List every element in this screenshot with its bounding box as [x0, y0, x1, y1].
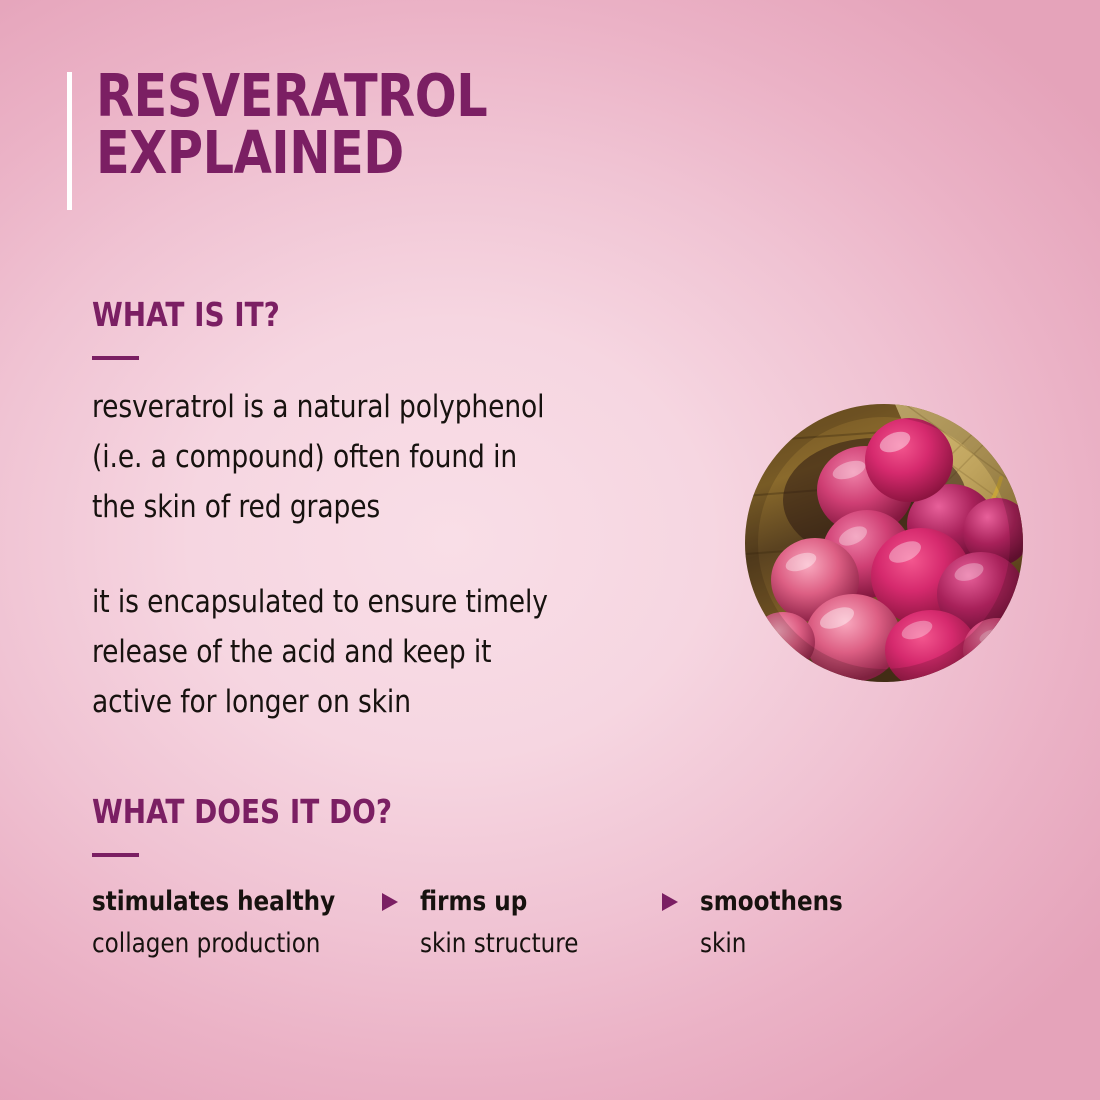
section-what-does-it-do: WHAT DOES IT DO? stimulates healthy coll… [92, 795, 992, 965]
section-heading-what-does-it-do: WHAT DOES IT DO? [92, 795, 938, 828]
benefits-row: stimulates healthy collagen production f… [92, 881, 992, 965]
page-title: RESVERATROL EXPLAINED [96, 68, 776, 181]
benefit-item: smoothens skin [662, 881, 912, 965]
heading-rule [92, 356, 139, 360]
paragraph-definition: resveratrol is a natural polyphenol (i.e… [92, 382, 719, 533]
arrow-right-icon [382, 893, 398, 911]
benefit-text: stimulates healthy collagen production [92, 881, 368, 965]
benefit-bold-label: stimulates healthy [92, 886, 335, 917]
benefit-item: firms up skin structure [382, 881, 662, 965]
benefit-rest-label: skin [700, 928, 746, 959]
benefit-rest-label: collagen production [92, 928, 320, 959]
paragraph-encapsulation: it is encapsulated to ensure timely rele… [92, 577, 719, 728]
benefit-text: firms up skin structure [420, 881, 578, 965]
heading-rule [92, 853, 139, 857]
section-heading-what-is-it: WHAT IS IT? [92, 298, 712, 331]
benefit-bold-label: firms up [420, 886, 527, 917]
section-what-is-it: WHAT IS IT? resveratrol is a natural pol… [92, 298, 752, 727]
title-block: RESVERATROL EXPLAINED [67, 68, 827, 181]
arrow-right-icon [662, 893, 678, 911]
title-accent-bar [67, 72, 72, 210]
grape-photo-circle [745, 404, 1023, 682]
benefit-rest-label: skin structure [420, 928, 578, 959]
grape-photo-illustration [745, 404, 1023, 682]
benefit-bold-label: smoothens [700, 886, 843, 917]
benefit-text: smoothens skin [700, 881, 843, 965]
benefit-item: stimulates healthy collagen production [92, 881, 382, 965]
